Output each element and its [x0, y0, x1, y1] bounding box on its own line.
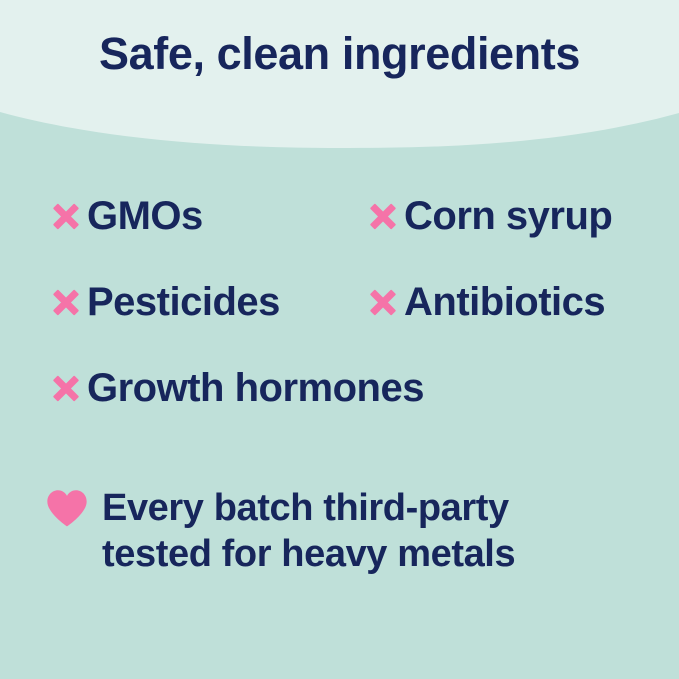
tested-note: Every batch third-party tested for heavy…: [46, 485, 646, 578]
x-mark-icon: [363, 196, 403, 236]
exclusion-label: Corn syrup: [404, 196, 612, 236]
x-mark-icon: [46, 368, 86, 408]
list-item: Antibiotics: [363, 282, 605, 322]
list-item: Pesticides: [46, 282, 280, 322]
tested-note-line-2: tested for heavy metals: [102, 531, 515, 577]
x-mark-icon: [363, 282, 403, 322]
page-title: Safe, clean ingredients: [0, 31, 679, 76]
exclusion-row: Pesticides Antibiotics: [0, 282, 679, 368]
exclusion-label: Antibiotics: [404, 282, 605, 322]
list-item: Growth hormones: [46, 368, 424, 408]
x-mark-icon: [46, 196, 86, 236]
exclusion-label: Pesticides: [87, 282, 280, 322]
ingredient-claims-card: Safe, clean ingredients GMOs Corn syrup …: [0, 0, 679, 679]
exclusion-row: GMOs Corn syrup: [0, 196, 679, 282]
list-item: Corn syrup: [363, 196, 612, 236]
tested-note-text: Every batch third-party tested for heavy…: [102, 485, 515, 578]
header-curve-shape: [0, 0, 679, 160]
heart-shape: [46, 489, 88, 527]
x-mark-icon: [46, 282, 86, 322]
heart-icon: [46, 489, 88, 531]
tested-note-line-1: Every batch third-party: [102, 485, 515, 531]
exclusion-label: Growth hormones: [87, 368, 424, 408]
header-band: [0, 0, 679, 160]
exclusion-row: Growth hormones: [0, 368, 679, 454]
exclusion-list: GMOs Corn syrup Pesticides Antibiotics G…: [0, 196, 679, 454]
list-item: GMOs: [46, 196, 203, 236]
exclusion-label: GMOs: [87, 196, 203, 236]
